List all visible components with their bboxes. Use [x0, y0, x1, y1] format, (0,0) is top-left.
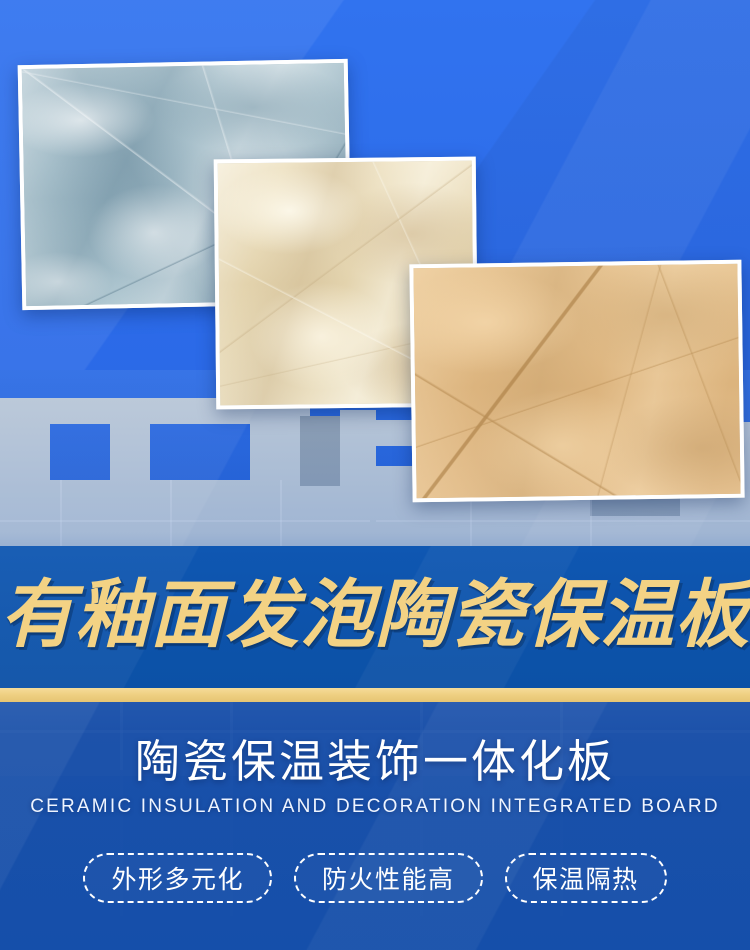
- feature-tag-fireproof[interactable]: 防火性能高: [294, 853, 483, 903]
- page-title: 有釉面发泡陶瓷保温板: [0, 578, 750, 652]
- feature-tag-shape[interactable]: 外形多元化: [83, 853, 272, 903]
- tile-veining: [413, 264, 740, 499]
- feature-tag-insulation[interactable]: 保温隔热: [505, 853, 667, 903]
- gold-divider: [0, 688, 750, 702]
- subtitle-chinese: 陶瓷保温装饰一体化板: [0, 736, 750, 788]
- subtitle-english: CERAMIC INSULATION AND DECORATION INTEGR…: [0, 796, 750, 818]
- tan-marble-tile: [409, 260, 744, 503]
- feature-tag-list: 外形多元化 防火性能高 保温隔热: [0, 853, 750, 903]
- product-banner: 有釉面发泡陶瓷保温板 陶瓷保温装饰一体化板 CERAMIC INSULATION…: [0, 0, 750, 950]
